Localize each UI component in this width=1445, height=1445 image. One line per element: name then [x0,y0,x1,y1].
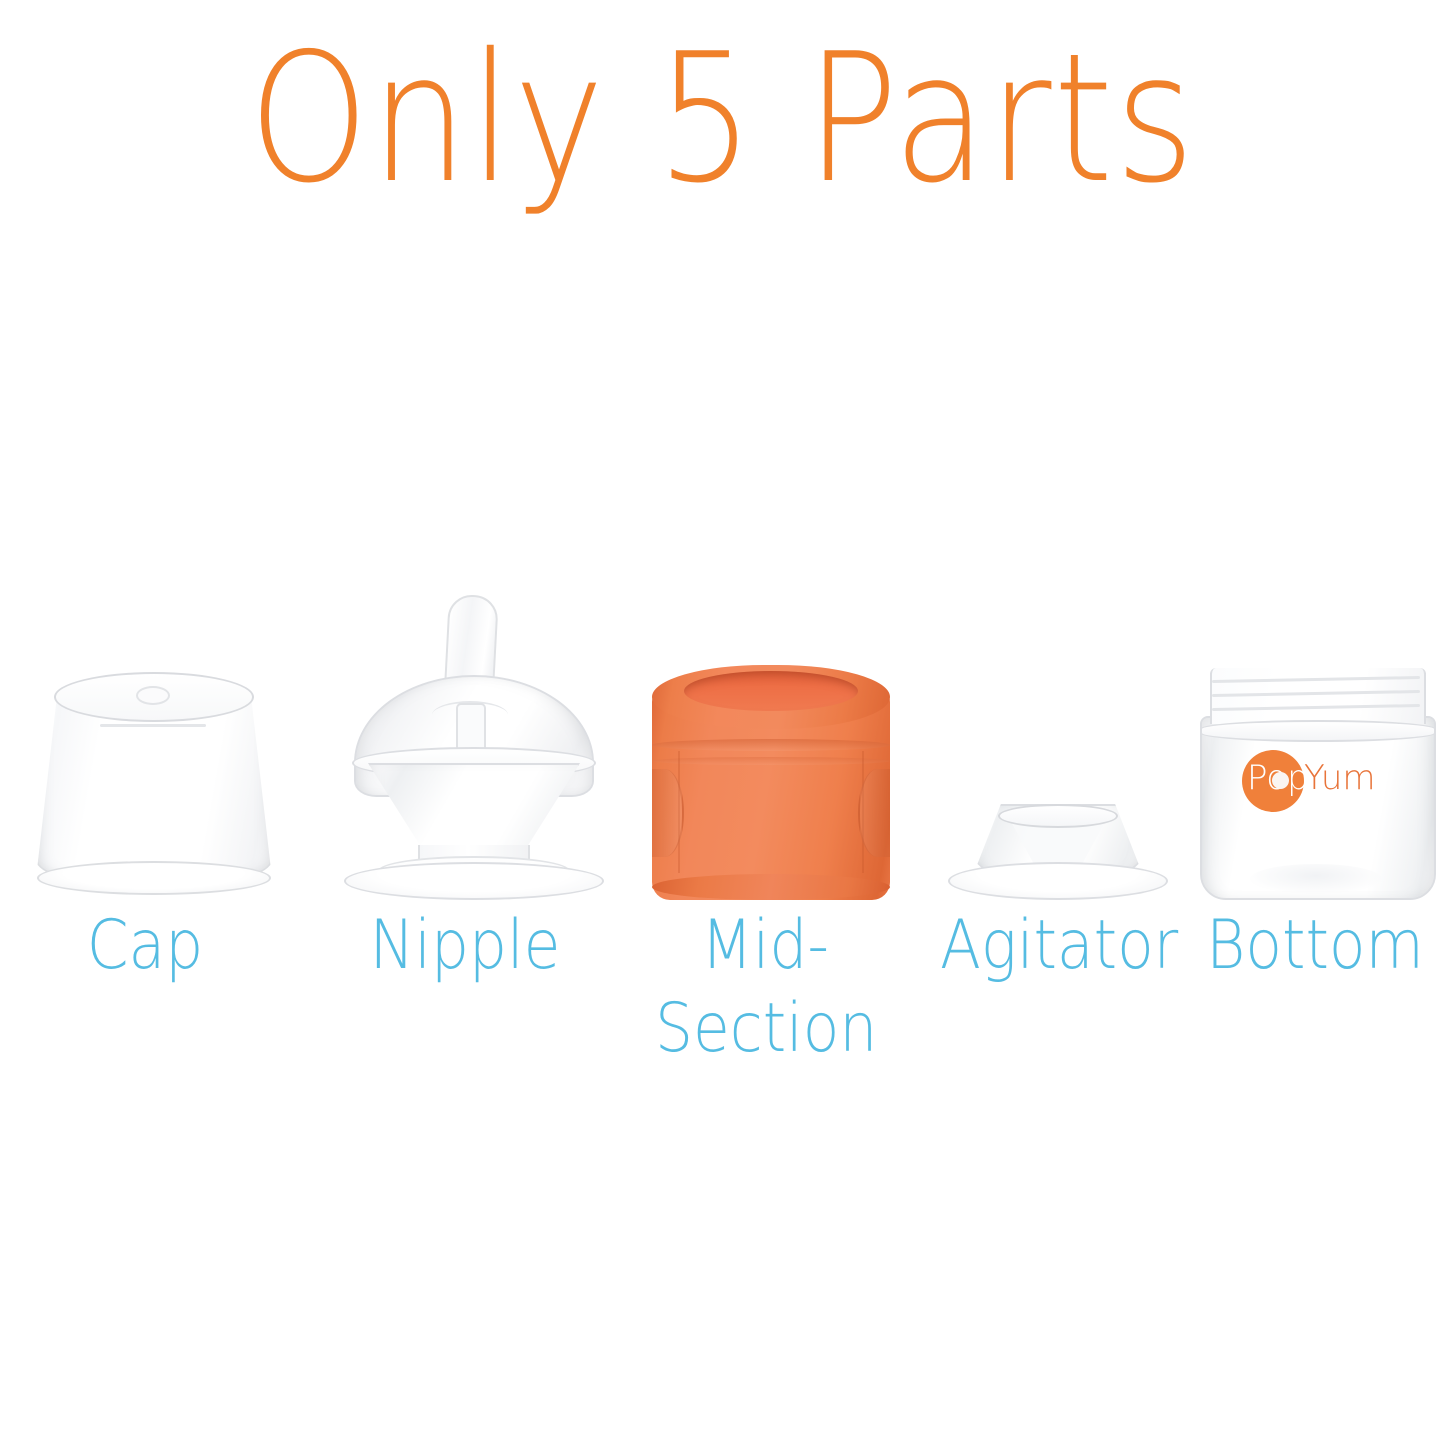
cap-seam-line [100,724,206,727]
part-agitator-image [948,804,1164,900]
label-nipple: Nipple [346,905,584,988]
part-nipple-image [338,595,606,900]
midsection-inner-mouth [684,671,858,711]
logo-yum-text: Yum [1304,761,1376,795]
logo-o-dot-icon [1272,772,1289,789]
nipple-taper-body [368,763,580,857]
midsection-bottom-rim [652,874,890,900]
label-agitator: Agitator [940,905,1160,988]
part-bottom-image: Pop Yum [1198,668,1434,900]
cap-body-shape [36,694,272,886]
bottom-shoulder-ring [1200,720,1436,742]
cap-center-dimple-icon [136,686,170,705]
midsection-groove-band [652,739,890,751]
nipple-base-flange [344,862,604,900]
part-midsection-image [648,665,894,900]
popyum-logo: Pop Yum [1242,750,1390,812]
cap-bottom-rim [37,861,271,895]
label-cap: Cap [35,905,255,988]
nipple-center-clip [456,703,486,753]
midsection-groove-band-2 [652,757,890,765]
label-midsection: Mid-Section [655,905,875,1071]
page-title: Only 5 Parts [101,28,1344,210]
label-bottom: Bottom [1205,905,1425,988]
midsection-grip-right [858,769,890,857]
agitator-top-ellipse [998,804,1118,828]
part-labels: Cap Nipple Mid-Section Agitator Bottom [0,905,1445,1075]
agitator-flange [948,862,1168,900]
product-parts-infographic: Only 5 Parts [0,0,1445,1445]
parts-row: Pop Yum [0,560,1445,900]
bottom-inner-floor [1250,864,1382,894]
part-cap-image [28,670,276,900]
